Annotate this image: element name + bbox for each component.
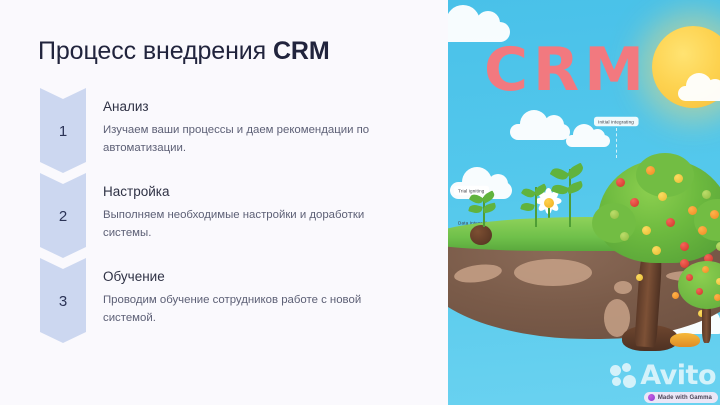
step-text-2: Настройка Выполняем необходимые настройк… [86, 173, 406, 243]
step-chevron-3: 3 [40, 258, 86, 343]
page-title-strong: CRM [273, 37, 330, 65]
chevron-down-icon: 2 [40, 173, 86, 258]
chevron-down-icon: 3 [40, 258, 86, 343]
step-title: Обучение [103, 269, 406, 286]
page-title-plain: Процесс внедрения [38, 37, 273, 65]
slide-root: Процесс внедрения CRM 1 Анализ Изучаем в… [0, 0, 720, 405]
chevron-down-icon: 1 [40, 88, 86, 173]
page-title: Процесс внедрения CRM [38, 36, 448, 66]
step-text-1: Анализ Изучаем ваши процессы и даем реко… [86, 88, 406, 158]
step-description: Выполняем необходимые настройки и дорабо… [103, 206, 406, 243]
step-chevron-1: 1 [40, 88, 86, 173]
step-title: Анализ [103, 99, 406, 116]
illustration-label-1: Initial integrating [594, 117, 638, 126]
falling-fruit [636, 274, 643, 281]
gamma-badge-label: Made with Gamma [658, 395, 712, 401]
illustration-headline: CRM [484, 40, 649, 100]
step-text-3: Обучение Проводим обучение сотрудников р… [86, 258, 406, 328]
list-item[interactable]: 1 Анализ Изучаем ваши процессы и даем ре… [38, 88, 438, 173]
gamma-logo-icon [648, 394, 655, 401]
cloud-icon [510, 124, 570, 140]
small-tree-illustration [676, 257, 720, 343]
list-item[interactable]: 2 Настройка Выполняем необходимые настро… [38, 173, 438, 258]
step-number: 1 [59, 122, 67, 139]
content-panel: Процесс внедрения CRM 1 Анализ Изучаем в… [0, 0, 448, 405]
sprout-icon-3 [556, 167, 582, 227]
made-with-gamma-badge[interactable]: Made with Gamma [644, 392, 718, 403]
sprout-icon-1 [472, 193, 494, 227]
step-title: Настройка [103, 184, 406, 201]
step-chevron-2: 2 [40, 173, 86, 258]
step-number: 2 [59, 207, 67, 224]
cloud-icon [566, 135, 610, 147]
cloud-icon [678, 86, 720, 101]
sprout-icon-2 [524, 185, 546, 227]
steps-list: 1 Анализ Изучаем ваши процессы и даем ре… [38, 88, 438, 343]
illustration-panel: CRM Initial integrating Trial igniting D… [448, 0, 720, 405]
seed-icon [470, 225, 492, 245]
step-number: 3 [59, 292, 67, 309]
step-description: Проводим обучение сотрудников работе с н… [103, 291, 406, 328]
list-item[interactable]: 3 Обучение Проводим обучение сотрудников… [38, 258, 438, 343]
step-description: Изучаем ваши процессы и даем рекомендаци… [103, 121, 406, 158]
